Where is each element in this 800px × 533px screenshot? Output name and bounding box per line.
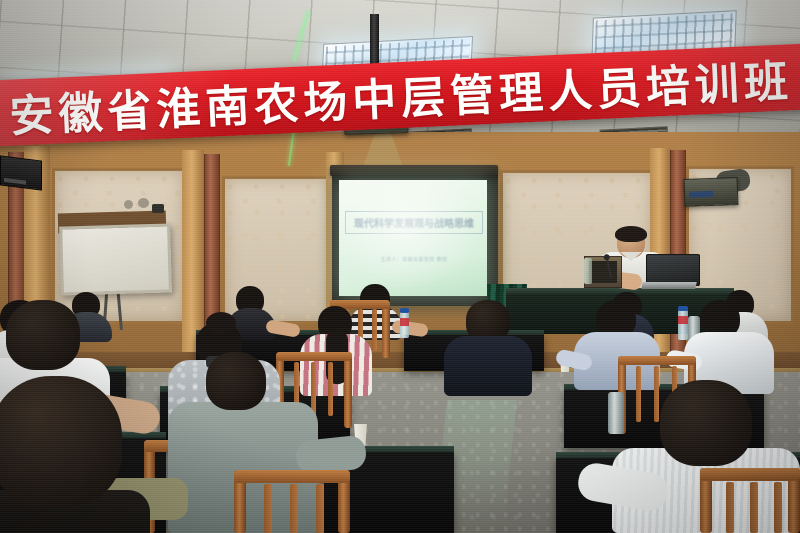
whiteboard [59, 223, 172, 295]
foreground-attendee-head [206, 352, 266, 410]
chair-slat [636, 366, 641, 422]
chair [234, 470, 350, 533]
chair-slat [328, 362, 333, 416]
thermos [608, 392, 624, 434]
bottle-cap [678, 306, 688, 311]
chair-slat [290, 484, 298, 533]
presenter-water-bottle [584, 258, 592, 284]
chair-top-rail [276, 352, 352, 361]
air-conditioner-unit [684, 177, 739, 207]
foreground-attendee-head [660, 380, 752, 466]
wall-mounted-hardware [120, 196, 166, 218]
chair-slat [264, 484, 272, 533]
chair-top-rail [234, 470, 350, 483]
chair-top-rail [700, 468, 800, 481]
presenter-hair [615, 226, 647, 242]
chair-slat [372, 309, 377, 351]
wall-speaker [0, 155, 42, 190]
water-bottle [400, 312, 409, 338]
foreground-attendee-head [6, 300, 80, 370]
screen-glare [339, 180, 487, 296]
chair-slat [774, 482, 782, 533]
chair-slat [726, 482, 734, 533]
bottle-cap [400, 308, 409, 313]
chair-slat [654, 366, 659, 422]
bottle-label [400, 318, 409, 326]
chair-post [344, 352, 352, 428]
attendee-torso [444, 336, 532, 396]
projection-screen-housing [330, 165, 498, 176]
chair-slat [750, 482, 758, 533]
chair-slat [316, 484, 324, 533]
foreground-attendee-head [0, 376, 122, 506]
wall-wood-column [182, 150, 204, 352]
water-bottle [678, 310, 688, 340]
chair [700, 468, 800, 533]
attendee-hair-bun [206, 312, 236, 334]
conference-room-photo: 现代科学发展观与战略思维 主讲人：安徽省委党校 教授 安徽省淮南农场中层管理人员… [0, 0, 800, 533]
chair-top-rail [618, 356, 696, 365]
laptop-keyboard [641, 282, 696, 289]
projection-screen: 现代科学发展观与战略思维 主讲人：安徽省委党校 教授 [339, 180, 487, 296]
bottle-label [678, 316, 688, 324]
